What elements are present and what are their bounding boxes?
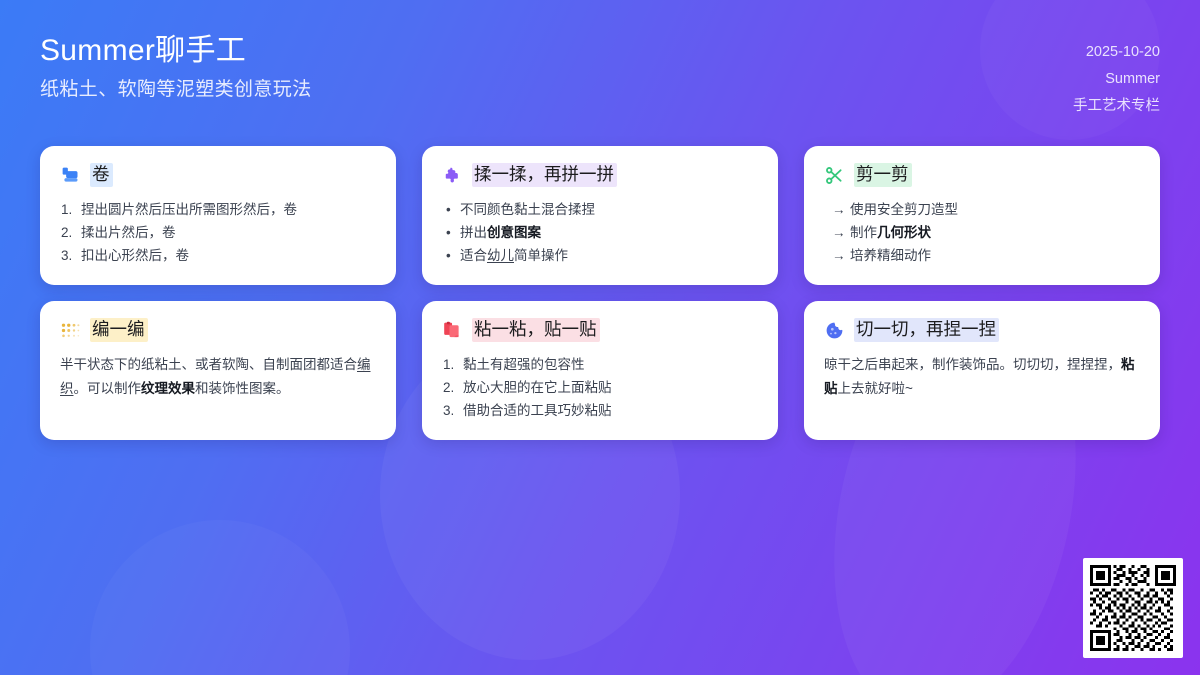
- list-text: 借助合适的工具巧妙粘贴: [463, 403, 612, 418]
- list-text: 捏出圆片然后压出所需图形然后，卷: [81, 202, 297, 217]
- paragraph-part1: 晾干之后串起来，制作装饰品。切切切，捏捏捏，: [824, 357, 1121, 372]
- card-body: 半干状态下的纸粘土、或者软陶、自制面团都适合编织。可以制作纹理效果和装饰性图案。: [60, 353, 376, 401]
- list-item: 3.扣出心形然后，卷: [60, 244, 376, 267]
- bullet-list: •不同颜色黏土混合揉捏 •拼出创意图案 •适合幼儿简单操作: [442, 198, 758, 268]
- header-titles: Summer聊手工 纸粘土、软陶等泥塑类创意玩法: [40, 34, 312, 102]
- list-marker: →: [832, 244, 846, 267]
- list-text-underline: 幼儿: [487, 248, 514, 263]
- paragraph-part2: 。可以制作: [74, 381, 142, 396]
- qr-code-container[interactable]: [1083, 558, 1183, 658]
- card-body: 晾干之后串起来，制作装饰品。切切切，捏捏捏，粘贴上去就好啦~: [824, 353, 1140, 401]
- card-bian[interactable]: 编一编 半干状态下的纸粘土、或者软陶、自制面团都适合编织。可以制作纹理效果和装饰…: [40, 301, 396, 440]
- list-text: 放心大胆的在它上面粘贴: [463, 380, 612, 395]
- author-name: Summer: [1105, 69, 1160, 90]
- list-text-bold: 创意图案: [487, 225, 541, 240]
- list-marker: 3.: [61, 244, 72, 267]
- list-text: 扣出心形然后，卷: [81, 248, 189, 263]
- card-body: •不同颜色黏土混合揉捏 •拼出创意图案 •适合幼儿简单操作: [442, 198, 758, 268]
- card-title: 剪一剪: [854, 163, 912, 187]
- list-item: 2.揉出片然后，卷: [60, 221, 376, 244]
- list-text-suffix: 简单操作: [514, 248, 568, 263]
- card-title: 揉一揉，再拼一拼: [472, 163, 617, 187]
- paragraph: 半干状态下的纸粘土、或者软陶、自制面团都适合编织。可以制作纹理效果和装饰性图案。: [60, 353, 376, 401]
- card-qie-nie[interactable]: 切一切，再捏一捏 晾干之后串起来，制作装饰品。切切切，捏捏捏，粘贴上去就好啦~: [804, 301, 1160, 440]
- card-zhan-tie[interactable]: 粘一粘，贴一贴 1.黏土有超强的包容性 2.放心大胆的在它上面粘贴 3.借助合适…: [422, 301, 778, 440]
- card-header: 粘一粘，贴一贴: [442, 318, 758, 342]
- card-header: 编一编: [60, 318, 376, 342]
- list-marker: 2.: [443, 376, 454, 399]
- publish-date: 2025-10-20: [1086, 42, 1160, 63]
- list-marker: •: [446, 221, 451, 244]
- dots-grid-icon: [60, 320, 81, 341]
- scroll-icon: [60, 165, 81, 186]
- paragraph-bold: 纹理效果: [141, 381, 195, 396]
- list-text: 黏土有超强的包容性: [463, 357, 585, 372]
- column-name: 手工艺术专栏: [1073, 96, 1160, 117]
- list-text-prefix: 拼出: [460, 225, 487, 240]
- card-body: →使用安全剪刀造型 →制作几何形状 →培养精细动作: [824, 198, 1140, 268]
- card-title: 卷: [90, 163, 113, 187]
- page-subtitle: 纸粘土、软陶等泥塑类创意玩法: [40, 78, 312, 103]
- card-header: 卷: [60, 163, 376, 187]
- cookie-icon: [824, 320, 845, 341]
- list-item: 1.捏出圆片然后压出所需图形然后，卷: [60, 198, 376, 221]
- paragraph-part1: 半干状态下的纸粘土、或者软陶、自制面团都适合: [60, 357, 357, 372]
- list-text: 揉出片然后，卷: [81, 225, 176, 240]
- list-text-prefix: 适合: [460, 248, 487, 263]
- page-header: Summer聊手工 纸粘土、软陶等泥塑类创意玩法 2025-10-20 Summ…: [0, 0, 1200, 128]
- list-marker: •: [446, 244, 451, 267]
- qr-code: [1090, 565, 1176, 651]
- ordered-list: 1.黏土有超强的包容性 2.放心大胆的在它上面粘贴 3.借助合适的工具巧妙粘贴: [442, 353, 758, 423]
- list-text-bold: 几何形状: [877, 225, 931, 240]
- list-marker: →: [832, 198, 846, 221]
- card-juan[interactable]: 卷 1.捏出圆片然后压出所需图形然后，卷 2.揉出片然后，卷 3.扣出心形然后，…: [40, 146, 396, 285]
- card-title: 粘一粘，贴一贴: [472, 318, 600, 342]
- card-header: 剪一剪: [824, 163, 1140, 187]
- card-title: 切一切，再捏一捏: [854, 318, 999, 342]
- card-body: 1.捏出圆片然后压出所需图形然后，卷 2.揉出片然后，卷 3.扣出心形然后，卷: [60, 198, 376, 268]
- list-item: 2.放心大胆的在它上面粘贴: [442, 376, 758, 399]
- list-item: →培养精细动作: [824, 244, 1140, 267]
- arrow-list: →使用安全剪刀造型 →制作几何形状 →培养精细动作: [824, 198, 1140, 268]
- list-item: →制作几何形状: [824, 221, 1140, 244]
- header-meta: 2025-10-20 Summer 手工艺术专栏: [1073, 34, 1160, 117]
- card-header: 揉一揉，再拼一拼: [442, 163, 758, 187]
- scissors-icon: [824, 165, 845, 186]
- ordered-list: 1.捏出圆片然后压出所需图形然后，卷 2.揉出片然后，卷 3.扣出心形然后，卷: [60, 198, 376, 268]
- list-item: •不同颜色黏土混合揉捏: [442, 198, 758, 221]
- page-title: Summer聊手工: [40, 34, 312, 69]
- puzzle-icon: [442, 165, 463, 186]
- list-marker: →: [832, 221, 846, 244]
- list-item: •适合幼儿简单操作: [442, 244, 758, 267]
- list-marker: 1.: [443, 353, 454, 376]
- card-title: 编一编: [90, 318, 148, 342]
- list-item: •拼出创意图案: [442, 221, 758, 244]
- card-rou-pin[interactable]: 揉一揉，再拼一拼 •不同颜色黏土混合揉捏 •拼出创意图案 •适合幼儿简单操作: [422, 146, 778, 285]
- card-jian[interactable]: 剪一剪 →使用安全剪刀造型 →制作几何形状 →培养精细动作: [804, 146, 1160, 285]
- list-text: 使用安全剪刀造型: [850, 202, 958, 217]
- list-marker: 1.: [61, 198, 72, 221]
- paragraph-part3: 和装饰性图案。: [195, 381, 290, 396]
- decor-blob-3: [90, 520, 350, 675]
- list-text: 不同颜色黏土混合揉捏: [460, 202, 595, 217]
- list-marker: 2.: [61, 221, 72, 244]
- list-item: 1.黏土有超强的包容性: [442, 353, 758, 376]
- card-grid: 卷 1.捏出圆片然后压出所需图形然后，卷 2.揉出片然后，卷 3.扣出心形然后，…: [40, 146, 1160, 440]
- sticky-note-icon: [442, 320, 463, 341]
- list-text: 培养精细动作: [850, 248, 931, 263]
- list-marker: •: [446, 198, 451, 221]
- list-marker: 3.: [443, 399, 454, 422]
- list-item: 3.借助合适的工具巧妙粘贴: [442, 399, 758, 422]
- list-text-prefix: 制作: [850, 225, 877, 240]
- card-header: 切一切，再捏一捏: [824, 318, 1140, 342]
- paragraph: 晾干之后串起来，制作装饰品。切切切，捏捏捏，粘贴上去就好啦~: [824, 353, 1140, 401]
- paragraph-part3: 上去就好啦~: [838, 381, 913, 396]
- card-body: 1.黏土有超强的包容性 2.放心大胆的在它上面粘贴 3.借助合适的工具巧妙粘贴: [442, 353, 758, 423]
- list-item: →使用安全剪刀造型: [824, 198, 1140, 221]
